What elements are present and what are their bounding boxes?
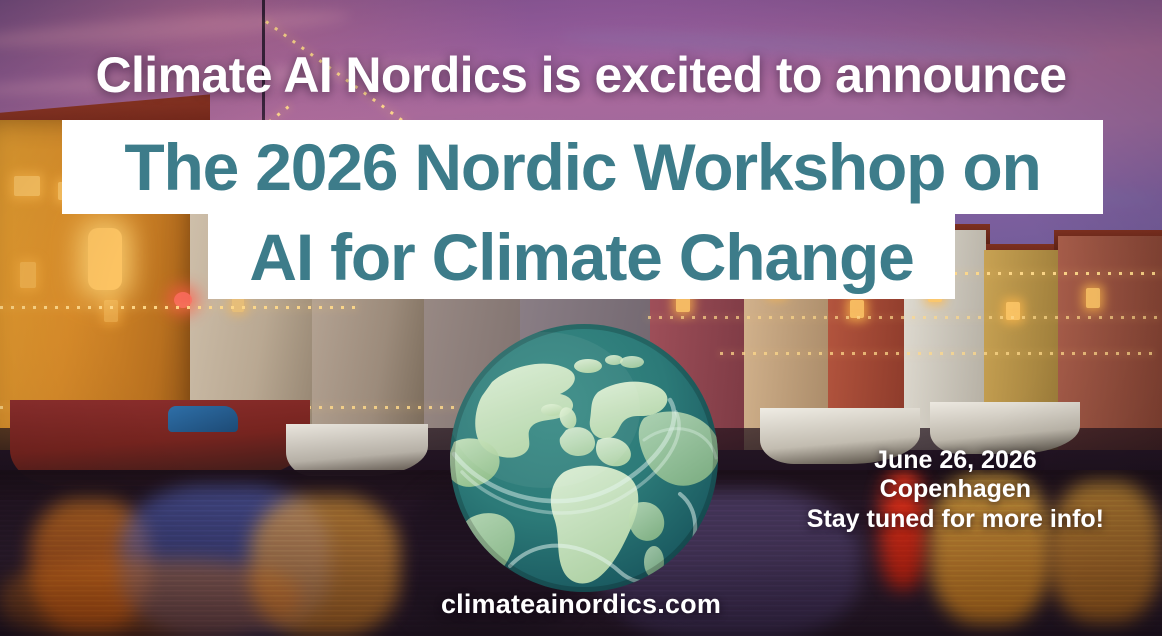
workshop-title-line1: The 2026 Nordic Workshop on bbox=[124, 134, 1040, 200]
event-note: Stay tuned for more info! bbox=[807, 505, 1104, 534]
boat-white bbox=[286, 424, 428, 476]
string-lights bbox=[0, 306, 360, 309]
event-city: Copenhagen bbox=[807, 475, 1104, 504]
string-lights bbox=[648, 316, 1160, 319]
event-details: June 26, 2026 Copenhagen Stay tuned for … bbox=[807, 446, 1104, 534]
workshop-title-line2: AI for Climate Change bbox=[249, 224, 913, 290]
globe-logo bbox=[448, 322, 720, 594]
globe-icon bbox=[448, 322, 720, 594]
event-announcement-poster: Climate AI Nordics is excited to announc… bbox=[0, 0, 1162, 636]
window-light bbox=[1086, 288, 1100, 308]
title-band-line1: The 2026 Nordic Workshop on bbox=[62, 120, 1103, 214]
window-light bbox=[20, 262, 36, 288]
event-date: June 26, 2026 bbox=[807, 446, 1104, 475]
window-light bbox=[104, 300, 118, 322]
window-light bbox=[14, 176, 40, 196]
string-lights bbox=[720, 352, 1160, 355]
boat-tarp bbox=[168, 406, 238, 432]
title-band-line2: AI for Climate Change bbox=[208, 214, 955, 299]
announcement-headline: Climate AI Nordics is excited to announc… bbox=[0, 50, 1162, 100]
website-url[interactable]: climateainordics.com bbox=[0, 589, 1162, 620]
reindeer-light-sculpture bbox=[88, 228, 122, 290]
